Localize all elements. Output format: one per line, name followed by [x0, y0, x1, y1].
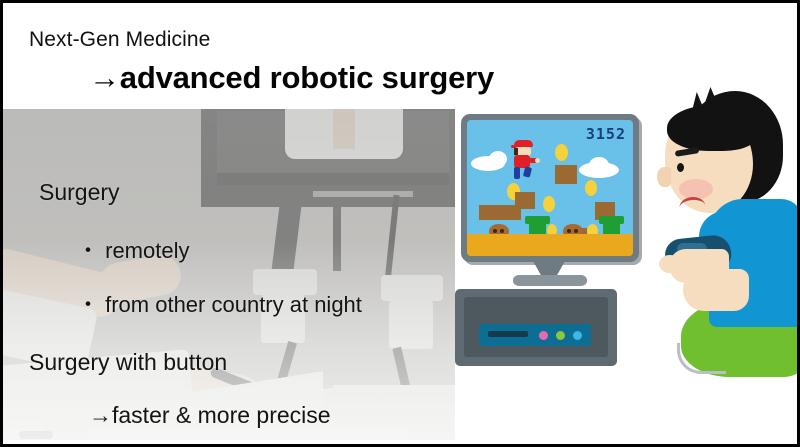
- game-score: 3152: [586, 125, 626, 143]
- eye: [677, 163, 684, 172]
- body-bullet-country: ・ from other country at night: [77, 287, 362, 319]
- pipe-top: [599, 216, 624, 224]
- presentation-slide: 3152: [0, 0, 800, 447]
- body-line-surgery: Surgery: [39, 179, 120, 206]
- cloud-icon: [589, 157, 609, 173]
- coin-icon: [585, 180, 597, 196]
- hair-fringe: [667, 105, 759, 151]
- body-line-precise: →faster & more precise: [89, 402, 331, 429]
- slide-body-text: Surgery ・ remotely ・ from other country …: [3, 109, 563, 440]
- slide-headline: →advanced robotic surgery: [89, 60, 494, 96]
- body-bullet-remotely: ・ remotely: [77, 233, 189, 265]
- slide-kicker: Next-Gen Medicine: [29, 28, 210, 52]
- ear: [657, 167, 671, 187]
- body-line-button: Surgery with button: [29, 349, 227, 376]
- console-button-blue[interactable]: [573, 331, 582, 340]
- controller-cord: [677, 343, 726, 374]
- cheek-blush: [679, 179, 713, 199]
- boy-playing-video-game: [643, 91, 800, 389]
- hand: [659, 255, 681, 273]
